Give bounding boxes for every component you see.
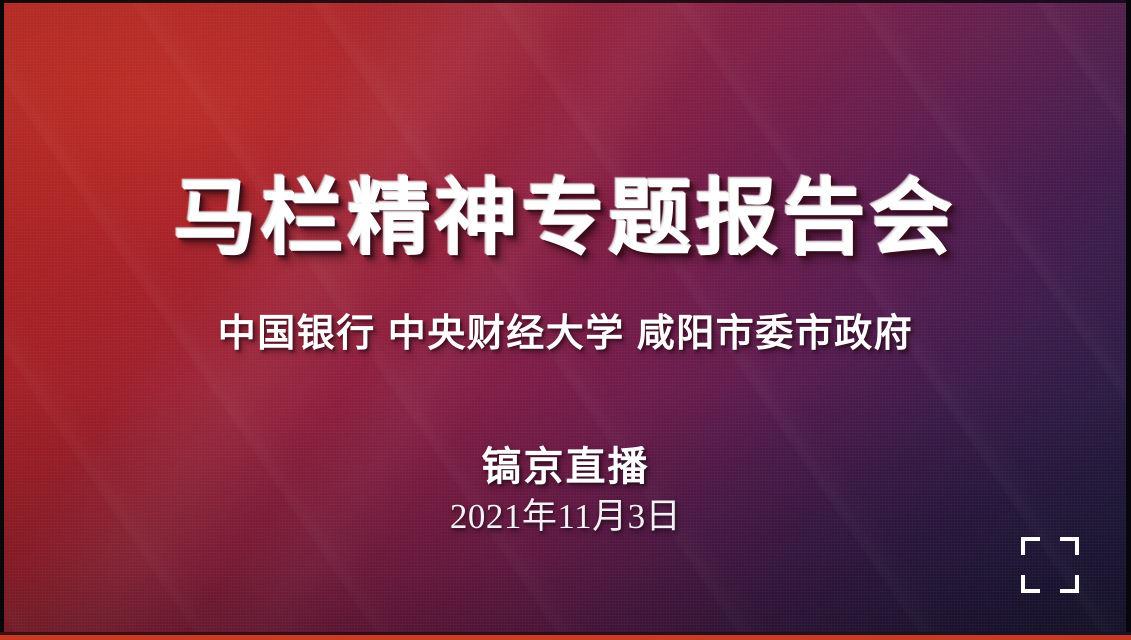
page-title: 马栏精神专题报告会 [0, 178, 1131, 261]
left-edge-bar [0, 0, 4, 640]
bottom-accent-strip [0, 635, 1131, 640]
fullscreen-corner-bottom-right [1060, 575, 1079, 593]
fullscreen-corner-top-right [1060, 537, 1079, 555]
slide-content: 马栏精神专题报告会 中国银行 中央财经大学 咸阳市委市政府 镐京直播 2021年… [0, 0, 1131, 640]
fullscreen-corner-top-left [1021, 537, 1040, 555]
right-edge-bar [1126, 0, 1131, 640]
video-slide-frame: 马栏精神专题报告会 中国银行 中央财经大学 咸阳市委市政府 镐京直播 2021年… [0, 0, 1131, 640]
organizers-subtitle: 中国银行 中央财经大学 咸阳市委市政府 [0, 315, 1131, 353]
top-edge-bar [0, 0, 1131, 3]
broadcast-channel-label: 镐京直播 [0, 447, 1131, 487]
broadcast-date-label: 2021年11月3日 [0, 499, 1131, 534]
fullscreen-corner-bottom-left [1021, 575, 1040, 593]
fullscreen-icon[interactable] [1021, 537, 1079, 593]
